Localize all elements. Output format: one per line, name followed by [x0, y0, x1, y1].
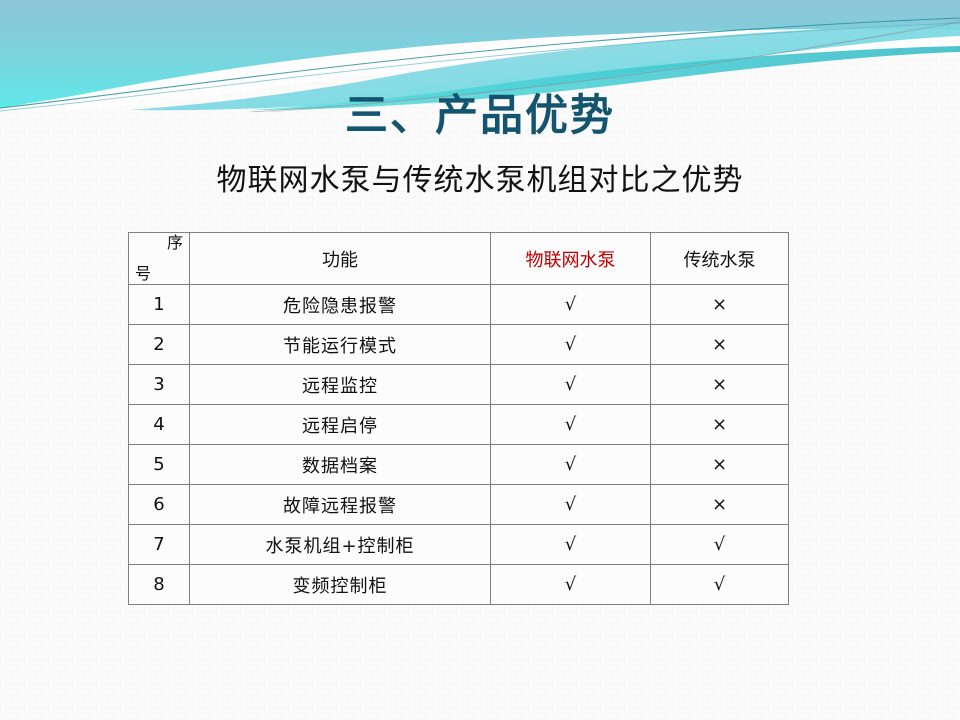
row-function: 故障远程报警: [190, 485, 491, 525]
comparison-table: 序 号 功能 物联网水泵 传统水泵 1 危险隐患报警 √ × 2 节能: [128, 232, 789, 605]
row-traditional-mark: ×: [651, 405, 789, 445]
row-iot-mark: √: [491, 405, 651, 445]
row-iot-mark: √: [491, 445, 651, 485]
row-iot-mark: √: [491, 365, 651, 405]
row-function: 水泵机组+控制柜: [190, 525, 491, 565]
row-traditional-mark: ×: [651, 485, 789, 525]
row-function: 变频控制柜: [190, 565, 491, 605]
row-function: 远程启停: [190, 405, 491, 445]
column-header-index: 序 号: [129, 233, 190, 285]
slide-canvas: 三、产品优势 物联网水泵与传统水泵机组对比之优势 序 号 功能 物联网水泵 传统…: [0, 0, 960, 720]
table-row: 3 远程监控 √ ×: [129, 365, 789, 405]
column-header-traditional-pump: 传统水泵: [651, 233, 789, 285]
row-traditional-mark: ×: [651, 445, 789, 485]
table-body: 1 危险隐患报警 √ × 2 节能运行模式 √ × 3 远程监控 √ ×: [129, 285, 789, 605]
table-row: 8 变频控制柜 √ √: [129, 565, 789, 605]
index-header-bottom: 号: [135, 265, 151, 283]
row-traditional-mark: √: [651, 525, 789, 565]
row-function: 节能运行模式: [190, 325, 491, 365]
page-title: 三、产品优势: [0, 92, 960, 141]
comparison-table-container: 序 号 功能 物联网水泵 传统水泵 1 危险隐患报警 √ × 2 节能: [128, 232, 788, 605]
column-header-iot-pump: 物联网水泵: [491, 233, 651, 285]
table-row: 4 远程启停 √ ×: [129, 405, 789, 445]
row-iot-mark: √: [491, 325, 651, 365]
row-number: 1: [129, 285, 190, 325]
row-iot-mark: √: [491, 565, 651, 605]
row-number: 7: [129, 525, 190, 565]
page-subtitle: 物联网水泵与传统水泵机组对比之优势: [0, 162, 960, 200]
row-number: 4: [129, 405, 190, 445]
row-traditional-mark: ×: [651, 285, 789, 325]
row-traditional-mark: ×: [651, 365, 789, 405]
row-iot-mark: √: [491, 525, 651, 565]
row-function: 危险隐患报警: [190, 285, 491, 325]
row-number: 2: [129, 325, 190, 365]
column-header-function: 功能: [190, 233, 491, 285]
table-header-row: 序 号 功能 物联网水泵 传统水泵: [129, 233, 789, 285]
table-row: 5 数据档案 √ ×: [129, 445, 789, 485]
table-row: 7 水泵机组+控制柜 √ √: [129, 525, 789, 565]
row-number: 8: [129, 565, 190, 605]
row-traditional-mark: √: [651, 565, 789, 605]
table-row: 2 节能运行模式 √ ×: [129, 325, 789, 365]
table-row: 6 故障远程报警 √ ×: [129, 485, 789, 525]
row-number: 6: [129, 485, 190, 525]
index-header-top: 序: [167, 234, 183, 252]
row-traditional-mark: ×: [651, 325, 789, 365]
row-iot-mark: √: [491, 285, 651, 325]
row-iot-mark: √: [491, 485, 651, 525]
row-number: 3: [129, 365, 190, 405]
row-number: 5: [129, 445, 190, 485]
row-function: 远程监控: [190, 365, 491, 405]
row-function: 数据档案: [190, 445, 491, 485]
table-row: 1 危险隐患报警 √ ×: [129, 285, 789, 325]
